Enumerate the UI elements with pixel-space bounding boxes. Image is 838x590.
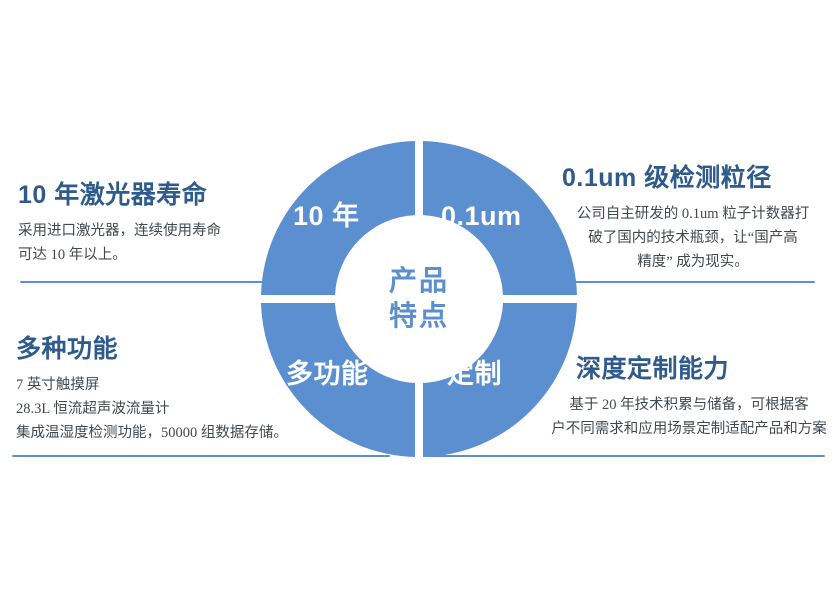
- feature-body-line: 基于 20 年技术积累与储备，可根据客: [548, 393, 830, 417]
- feature-body-multifunction: 7 英寸触摸屏 28.3L 恒流超声波流量计 集成温湿度检测功能，50000 组…: [16, 373, 306, 446]
- feature-body-customization: 基于 20 年技术积累与储备，可根据客 户不同需求和应用场景定制适配产品和方案: [548, 393, 830, 442]
- divider-top-right: [575, 281, 815, 283]
- feature-block-customization: 深度定制能力 基于 20 年技术积累与储备，可根据客 户不同需求和应用场景定制适…: [548, 356, 830, 441]
- feature-heading-multifunction: 多种功能: [16, 336, 306, 364]
- divider-bottom-left: [12, 455, 390, 457]
- infographic-canvas: 10 年 0.1um 多功能 定制 产品 特点 10 年激光器寿命 采用进口激光…: [0, 0, 838, 590]
- feature-body-line: 28.3L 恒流超声波流量计: [16, 397, 306, 421]
- feature-body-line: 7 英寸触摸屏: [16, 373, 306, 397]
- divider-top-left: [20, 281, 290, 283]
- donut-label-custom: 定制: [447, 361, 502, 388]
- feature-body-line: 精度” 成为现实。: [562, 250, 824, 274]
- feature-heading-customization: 深度定制能力: [576, 356, 830, 384]
- feature-body-laser-lifetime: 采用进口激光器，连续使用寿命 可达 10 年以上。: [18, 219, 280, 268]
- donut-label-particle: 0.1um: [441, 203, 522, 230]
- feature-body-line: 可达 10 年以上。: [18, 243, 280, 267]
- product-features-donut: 10 年 0.1um 多功能 定制 产品 特点: [261, 141, 577, 457]
- donut-label-ten-years: 10 年: [293, 203, 360, 230]
- feature-block-particle-size: 0.1um 级检测粒径 公司自主研发的 0.1um 粒子计数器打 破了国内的技术…: [562, 165, 824, 275]
- feature-body-line: 采用进口激光器，连续使用寿命: [18, 219, 280, 243]
- feature-body-particle-size: 公司自主研发的 0.1um 粒子计数器打 破了国内的技术瓶颈，让“国产高 精度”…: [562, 202, 824, 275]
- divider-bottom-right: [425, 455, 825, 457]
- feature-body-line: 户不同需求和应用场景定制适配产品和方案: [548, 417, 830, 441]
- feature-block-laser-lifetime: 10 年激光器寿命 采用进口激光器，连续使用寿命 可达 10 年以上。: [18, 182, 280, 267]
- feature-body-line: 公司自主研发的 0.1um 粒子计数器打: [562, 202, 824, 226]
- feature-heading-particle-size: 0.1um 级检测粒径: [562, 165, 824, 193]
- donut-svg: [261, 141, 577, 457]
- feature-heading-laser-lifetime: 10 年激光器寿命: [18, 182, 280, 210]
- feature-body-line: 破了国内的技术瓶颈，让“国产高: [562, 226, 824, 250]
- feature-body-line: 集成温湿度检测功能，50000 组数据存储。: [16, 421, 306, 445]
- feature-block-multifunction: 多种功能 7 英寸触摸屏 28.3L 恒流超声波流量计 集成温湿度检测功能，50…: [16, 336, 306, 446]
